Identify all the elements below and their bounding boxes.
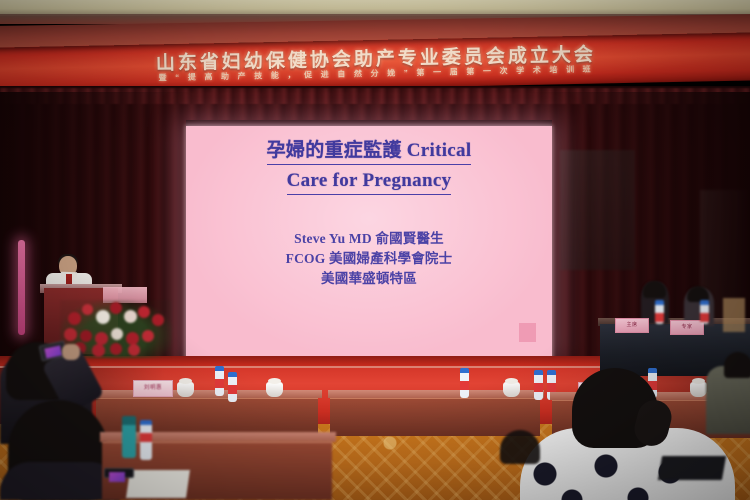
head-table-chair (723, 298, 745, 332)
head-table-bottle-1 (655, 300, 664, 324)
audience-member-mid-right-hair (500, 430, 540, 464)
water-bottle-2 (228, 372, 237, 402)
slide-author-block: Steve Yu MD 俞國賢醫生 FCOG 美國婦產科學會院士 美國華盛頓特區 (196, 229, 542, 289)
audience-laptop[interactable] (658, 456, 726, 480)
handout-paper-1 (126, 470, 190, 498)
presentation-slide: 孕婦的重症監護 Critical Care for Pregnancy Stev… (186, 126, 552, 358)
audience-nameplate-1: 刘明惠 (133, 380, 173, 397)
head-table-bottle-2 (700, 300, 709, 324)
audience-nameplate-1-text: 刘明惠 (134, 381, 172, 396)
stage-light-strip (18, 240, 25, 335)
head-table-person-1-hair (643, 281, 666, 298)
head-table-nameplate-2: 专家 (670, 320, 704, 335)
thermos-bottle (122, 416, 136, 458)
slide-corner-mark (519, 323, 536, 342)
teacup-1 (177, 382, 194, 397)
head-table-nameplate-1: 主席 (615, 318, 649, 333)
water-bottle-1 (215, 366, 224, 396)
slide-author-line-2: FCOG 美國婦產科學會院士 (196, 249, 542, 269)
teacup-3 (503, 382, 520, 397)
slide-author-line-3: 美國華盛頓特區 (196, 269, 542, 289)
smartphone-on-desk[interactable] (104, 468, 134, 478)
teacup-4 (690, 382, 707, 397)
projection-screen: 孕婦的重症監護 Critical Care for Pregnancy Stev… (186, 126, 552, 358)
audience-desk-left-top (94, 390, 322, 398)
slide-title: 孕婦的重症監護 Critical Care for Pregnancy (196, 138, 542, 195)
conference-hall-photo: 山东省妇幼保健协会助产专业委员会成立大会 暨 “ 提 高 助 产 技 能 ， 促… (0, 0, 750, 500)
slide-author-line-1: Steve Yu MD 俞國賢醫生 (196, 229, 542, 249)
water-bottle-7 (140, 420, 152, 460)
right-edge-person-hair (724, 352, 750, 378)
head-table-nameplate-2-text: 专家 (671, 321, 703, 334)
slide-title-line-2: Care for Pregnancy (287, 168, 452, 195)
water-bottle-4 (534, 370, 543, 400)
head-table-nameplate-1-text: 主席 (616, 319, 648, 332)
audience-desk-mid (330, 396, 540, 436)
photographer-hand (62, 344, 80, 360)
slide-title-line-1: 孕婦的重症監護 Critical (267, 138, 472, 165)
water-bottle-3 (460, 368, 469, 398)
teacup-2 (266, 382, 283, 397)
